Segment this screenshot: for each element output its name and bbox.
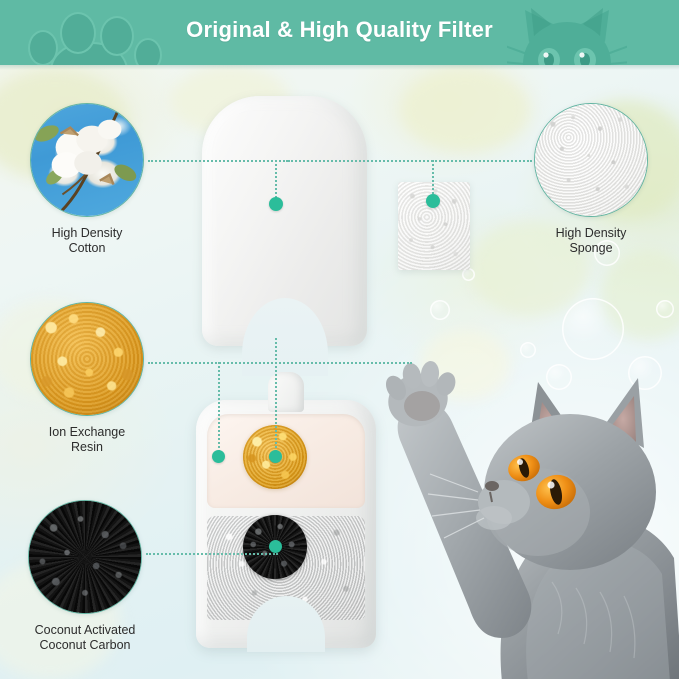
caption-line-2: Cotton bbox=[2, 241, 172, 256]
header-bar: Original & High Quality Filter bbox=[0, 0, 679, 65]
connector-cotton-horizontal bbox=[148, 160, 288, 162]
header-divider bbox=[0, 65, 679, 70]
caption-line-2: Coconut Carbon bbox=[0, 638, 170, 653]
feature-caption-sponge: High Density Sponge bbox=[506, 226, 676, 256]
sponge-foam-photo bbox=[534, 103, 648, 217]
grey-cat-photo bbox=[352, 352, 679, 679]
connector-sponge-horizontal bbox=[288, 160, 532, 162]
activated-carbon-photo bbox=[28, 500, 142, 614]
caption-line-2: Resin bbox=[2, 440, 172, 455]
cotton-boll-photo bbox=[30, 103, 144, 217]
connector-resin-vertical-b bbox=[275, 362, 277, 452]
caption-line-1: High Density bbox=[2, 226, 172, 241]
soap-bubble bbox=[562, 298, 624, 360]
carbon-texture bbox=[29, 501, 141, 613]
feature-sponge[interactable]: High Density Sponge bbox=[506, 103, 676, 256]
connector-carbon-horizontal bbox=[146, 553, 278, 555]
page-title: Original & High Quality Filter bbox=[0, 17, 679, 43]
connector-cotton-vertical bbox=[275, 160, 277, 202]
soap-bubble bbox=[430, 300, 450, 320]
caption-line-2: Sponge bbox=[506, 241, 676, 256]
marker-dot-cotton bbox=[269, 197, 283, 211]
marker-dot-carbon bbox=[269, 540, 282, 553]
feature-carbon[interactable]: Coconut Activated Coconut Carbon bbox=[0, 500, 170, 653]
resin-texture bbox=[31, 303, 143, 415]
feature-resin[interactable]: Ion Exchange Resin bbox=[2, 302, 172, 455]
sponge-texture bbox=[535, 104, 647, 216]
soap-bubble bbox=[656, 300, 674, 318]
connector-resin-horizontal bbox=[148, 362, 412, 364]
pad-notch bbox=[242, 298, 328, 376]
ion-exchange-resin-photo bbox=[30, 302, 144, 416]
product-infographic: High Density Cotton Ion Exchange Resin C… bbox=[0, 0, 679, 679]
feature-cotton[interactable]: High Density Cotton bbox=[2, 103, 172, 256]
cartridge-stem bbox=[268, 372, 304, 412]
caption-line-1: Ion Exchange bbox=[2, 425, 172, 440]
feature-caption-cotton: High Density Cotton bbox=[2, 226, 172, 256]
connector-pad-to-cartridge bbox=[275, 338, 277, 364]
marker-dot-sponge bbox=[426, 194, 440, 208]
cotton-filter-pad bbox=[202, 96, 367, 346]
caption-line-1: High Density bbox=[506, 226, 676, 241]
marker-dot-resin-center bbox=[269, 450, 282, 463]
feature-caption-resin: Ion Exchange Resin bbox=[2, 425, 172, 455]
marker-dot-resin-left bbox=[212, 450, 225, 463]
connector-resin-vertical-a bbox=[218, 362, 220, 452]
cotton-branch-overlay bbox=[31, 104, 143, 216]
caption-line-1: Coconut Activated bbox=[0, 623, 170, 638]
connector-sponge-vertical bbox=[432, 160, 434, 198]
feature-caption-carbon: Coconut Activated Coconut Carbon bbox=[0, 623, 170, 653]
